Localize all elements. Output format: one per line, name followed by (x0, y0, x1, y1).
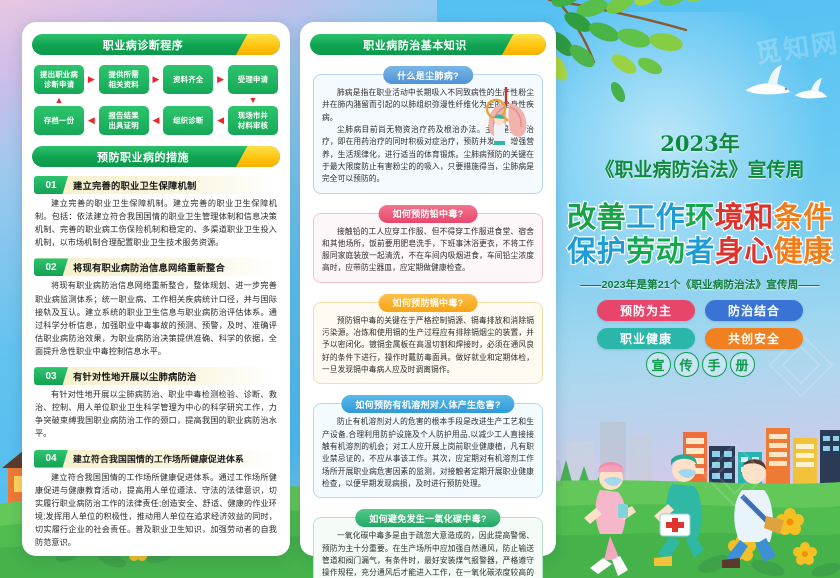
arrow-left-icon: ◀ (217, 116, 224, 125)
headline-char: 动 (656, 236, 686, 268)
section-header-title: 职业病防治基本知识 (363, 37, 467, 53)
section-header-basic-knowledge: 职业病防治基本知识 (310, 34, 546, 55)
headline-char: 护 (597, 236, 627, 268)
middle-content-panel: 职业病防治基本知识 什么是尘肺病? (300, 22, 556, 556)
headline-char: 身 (715, 236, 745, 268)
step-paragraph: 将现有职业病防治信息网络重新整合，整体规划、进一步完善职业病监测体系；统一职业病… (35, 279, 277, 358)
info-card-cadmium-poisoning: 如何预防镉中毒? 预防镉中毒的关键在于严格控制镉源、镉毒排放和消除镉污染源。冶炼… (313, 294, 543, 385)
arrow-up-icon: ▲ (34, 95, 84, 105)
section-header-diagnosis: 职业病诊断程序 (32, 34, 280, 55)
section-header-prevention: 预防职业病的措施 (32, 146, 280, 167)
flow-box: 资料齐全 (163, 65, 213, 94)
card-caption: 如何预防铅中毒? (379, 205, 478, 223)
card-paragraph: 防止有机溶剂对人的危害的根本手段是改进生产工艺和生产设备,合理利用防护设施及个人… (322, 416, 534, 490)
flow-box: 组织诊断 (163, 106, 213, 135)
year-subtitle: 《职业病防治法》宣传周 (560, 155, 840, 182)
subtitle-line: ——2023年是第21个《职业病防治法》宣传周—— (560, 277, 840, 292)
numbered-heading-04: 04 建立符合我国国情的工作场所健康促进体系 (34, 450, 278, 468)
pill-tail (502, 34, 546, 55)
arrow-right-icon: ▶ (217, 75, 224, 84)
info-card-pneumoconiosis: 什么是尘肺病? 肺病是指在职业活 (313, 66, 543, 194)
card-paragraph: 一氧化碳中毒多是由于疏忽大意造成的，因此提高警惕、预防为主十分重要。在生产场所中… (322, 530, 534, 578)
numbered-heading-03: 03 有针对性地开展以尘肺病防治 (34, 367, 278, 385)
card-caption: 如何预防镉中毒? (379, 294, 478, 312)
section-header-title: 职业病诊断程序 (103, 37, 184, 53)
slogan-badge-group: 预防为主 防治结合 职业健康 共创安全 (588, 300, 812, 349)
headline-char: 劳 (626, 236, 656, 268)
slogan-badge-prevention-first[interactable]: 预防为主 (597, 300, 695, 321)
step-title: 建立符合我国国情的工作场所健康促进体系 (68, 450, 278, 468)
slogan-badge-prevention-treatment[interactable]: 防治结合 (705, 300, 803, 321)
headline-char: 者 (685, 236, 715, 268)
card-caption: 如何预防有机溶剂对人体产生危害? (341, 395, 514, 413)
numbered-heading-02: 02 将现有职业病防治信息网络重新整合 (34, 258, 278, 276)
flow-box: 受理申请 (228, 65, 278, 94)
lungs-illustration-icon (478, 79, 540, 145)
headline-char: 心 (744, 236, 774, 268)
step-number: 04 (34, 450, 68, 468)
slogan-badge-occupational-health[interactable]: 职业健康 (597, 328, 695, 349)
flow-row-bottom: 存档一份 ◀ 报告结果出具证明 ◀ 组织诊断 ◀ 现场市井材料审核 (34, 106, 278, 135)
step-paragraph: 建立符合我国国情的工作场所健康促进体系。通过工作场所健康促进与健康教育活动，提高… (35, 471, 277, 550)
step-title: 将现有职业病防治信息网络重新整合 (68, 258, 278, 276)
section-header-title: 预防职业病的措施 (97, 149, 189, 165)
headline-line-2: 保护劳动者身心健康 (560, 228, 840, 270)
flow-box: 现场市井材料审核 (228, 106, 278, 135)
pill-tail (236, 146, 280, 167)
card-body: 防止有机溶剂对人的危害的根本手段是改进生产工艺和生产设备,合理利用防护设施及个人… (313, 403, 543, 498)
flow-row-top: 提出职业病诊断申请 ▶ 提供所需相关资料 ▶ 资料齐全 ▶ 受理申请 (34, 65, 278, 94)
headline-char: 康 (803, 236, 833, 268)
arrow-down-icon: ▼ (228, 95, 278, 105)
flow-box: 报告结果出具证明 (99, 106, 149, 135)
card-body: 接触铅的工人应穿工作服、但不得穿工作服进食堂、宿舍和其他场所，饭前要用肥皂洗手，… (313, 213, 543, 283)
brochure-stamp: 宣 传 手 册 (560, 352, 840, 377)
step-paragraph: 有针对性地开展以尘肺病防治、职业中毒检测检验、诊断、救治、控制、用人单位职业卫生… (35, 388, 277, 440)
info-card-carbon-monoxide: 如何避免发生一氧化碳中毒? 一氧化碳中毒多是由于疏忽大意造成的，因此提高警惕、预… (313, 509, 543, 578)
year-label: 2023年 (560, 128, 840, 158)
flow-box: 提出职业病诊断申请 (34, 65, 84, 94)
stamp-char: 手 (702, 352, 727, 377)
step-number: 03 (34, 367, 68, 385)
card-paragraph: 接触铅的工人应穿工作服、但不得穿工作服进食堂、宿舍和其他场所，饭前要用肥皂洗手，… (322, 226, 534, 275)
stamp-char: 册 (730, 352, 755, 377)
headline-char: 健 (774, 236, 804, 268)
step-number: 02 (34, 258, 68, 276)
card-paragraph: 预防镉中毒的关键在于严格控制镉源、镉毒排放和消除镉污染源。冶炼和使用镉的生产过程… (322, 315, 534, 377)
stamp-char: 宣 (646, 352, 671, 377)
info-card-organic-solvent: 如何预防有机溶剂对人体产生危害? 防止有机溶剂对人的危害的根本手段是改进生产工艺… (313, 395, 543, 498)
diagnosis-flowchart: 提出职业病诊断申请 ▶ 提供所需相关资料 ▶ 资料齐全 ▶ 受理申请 ▲ ▼ 存… (34, 65, 278, 135)
arrow-left-icon: ◀ (88, 116, 95, 125)
stamp-char: 传 (674, 352, 699, 377)
step-title: 有针对性地开展以尘肺病防治 (68, 367, 278, 385)
card-body: 预防镉中毒的关键在于严格控制镉源、镉毒排放和消除镉污染源。冶炼和使用镉的生产过程… (313, 302, 543, 385)
card-body: 肺病是指在职业活动中长期吸入不同致病性的生产性粉尘并在肺内潴留而引起的以肺组织弥… (313, 74, 543, 194)
left-content-panel: 职业病诊断程序 提出职业病诊断申请 ▶ 提供所需相关资料 ▶ 资料齐全 ▶ 受理… (22, 22, 290, 556)
headline-char: 保 (567, 236, 597, 268)
arrow-left-icon: ◀ (153, 116, 160, 125)
slogan-badge-create-safety[interactable]: 共创安全 (705, 328, 803, 349)
step-title: 建立完善的职业卫生保障机制 (68, 176, 278, 194)
info-card-lead-poisoning: 如何预防铅中毒? 接触铅的工人应穿工作服、但不得穿工作服进食堂、宿舍和其他场所，… (313, 205, 543, 283)
flow-connectors: ▲ ▼ (34, 94, 278, 106)
step-paragraph: 建立完善的职业卫生保障机制。建立完善的职业卫生保障机制。包括：依法建立符合我国国… (35, 197, 277, 249)
card-caption: 如何避免发生一氧化碳中毒? (355, 509, 500, 527)
arrow-right-icon: ▶ (88, 75, 95, 84)
pill-tail (236, 34, 280, 55)
flow-box: 存档一份 (34, 106, 84, 135)
card-caption: 什么是尘肺病? (383, 66, 473, 84)
right-title-area: 2023年 《职业病防治法》宣传周 改善工作环境和条件 保护劳动者身心健康 ——… (560, 0, 840, 578)
numbered-heading-01: 01 建立完善的职业卫生保障机制 (34, 176, 278, 194)
flow-box: 提供所需相关资料 (99, 65, 149, 94)
step-number: 01 (34, 176, 68, 194)
arrow-right-icon: ▶ (153, 75, 160, 84)
